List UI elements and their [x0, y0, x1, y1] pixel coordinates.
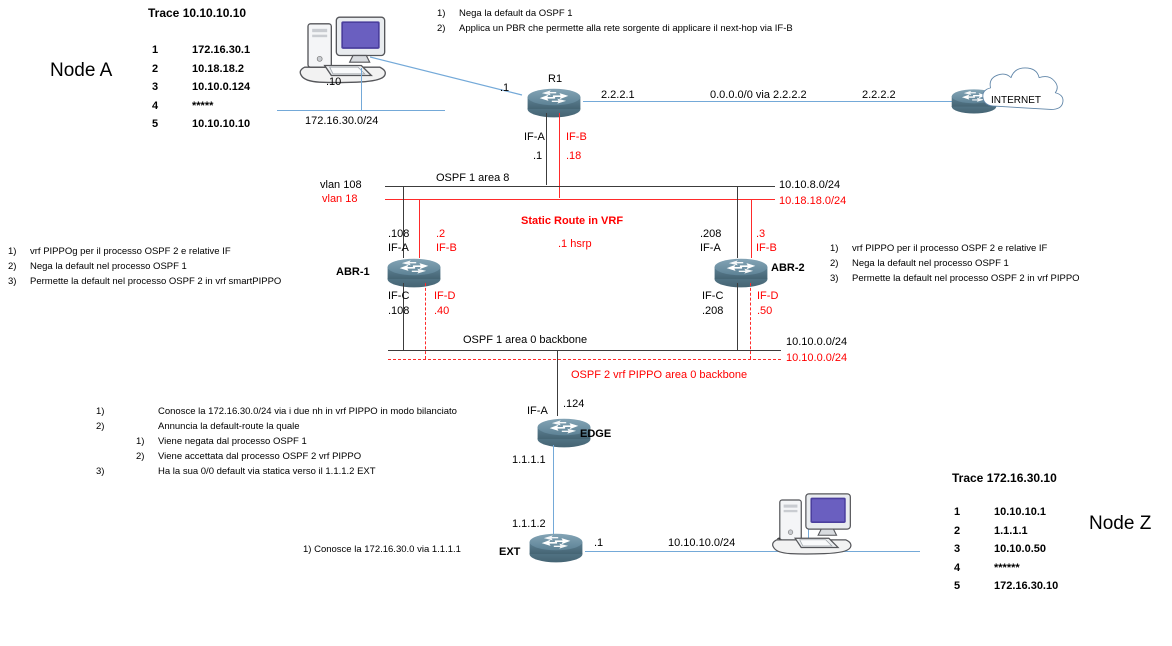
label-abr2-ifd-ip: .50	[757, 305, 772, 318]
trace-a-table: 1172.16.30.1210.18.18.2310.10.0.1244****…	[150, 41, 252, 136]
annotation-edge-text: Viene accettata dal processo OSPF 2 vrf …	[158, 449, 457, 464]
trace-z-row: 310.10.0.50	[954, 542, 1058, 559]
annotation-r1: 1)Nega la default da OSPF 12)Applica un …	[437, 6, 957, 36]
node-a-label: Node A	[50, 60, 112, 82]
trace-z-title: Trace 172.16.30.10	[952, 471, 1057, 485]
annotation-edge-item: 1)Conosce la 172.16.30.0/24 via i due nh…	[96, 404, 457, 419]
abr2-if-a-line	[737, 186, 738, 258]
label-net-10-10-10: 10.10.10.0/24	[668, 537, 735, 550]
annotation-abr1-text: vrf PIPPOg per il processo OSPF 2 e rela…	[30, 244, 281, 259]
annotation-edge-text: Conosce la 172.16.30.0/24 via i due nh i…	[158, 404, 457, 419]
label-abr2-name: ABR-2	[771, 262, 805, 275]
annotation-r1-text: Nega la default da OSPF 1	[459, 6, 793, 21]
label-abr2-ifb: IF-B	[756, 242, 777, 255]
ospf2-backbone-bus	[388, 359, 781, 360]
router-ext-icon[interactable]	[525, 531, 587, 564]
label-net-10-10-0-red: 10.10.0.0/24	[786, 352, 847, 365]
annotation-abr2-text: Permette la default nel processo OSPF 2 …	[852, 271, 1080, 286]
label-ext-up-ip: 1.1.1.2	[512, 518, 546, 531]
label-r1-ifb-ip: .18	[566, 150, 581, 163]
trace-a-hop: 5	[152, 117, 190, 134]
trace-a-address: 10.18.18.2	[192, 62, 250, 79]
annotation-edge-marker: 2)	[96, 449, 158, 464]
trace-a-row: 1172.16.30.1	[152, 43, 250, 60]
label-internet: INTERNET	[991, 95, 1041, 107]
annotation-abr2-text: Nega la default nel processo OSPF 1	[852, 256, 1080, 271]
label-abr1-ifb-ip: .2	[436, 228, 445, 241]
annotation-abr1-item: 2)Nega la default nel processo OSPF 1	[8, 259, 281, 274]
annotation-abr2-marker: 2)	[830, 256, 852, 271]
label-net-10-10-8: 10.10.8.0/24	[779, 179, 840, 192]
label-abr1-ifc-ip: .108	[388, 305, 409, 318]
label-r1-wan-ip: 2.2.2.1	[601, 89, 635, 102]
trace-z-address: 1.1.1.1	[994, 524, 1058, 541]
lan-z-bus	[585, 551, 920, 552]
annotation-abr1-item: 1)vrf PIPPOg per il processo OSPF 2 e re…	[8, 244, 281, 259]
label-abr1-ifa-ip: .108	[388, 228, 409, 241]
label-net-10-10-0-black: 10.10.0.0/24	[786, 336, 847, 349]
annotation-r1-marker: 2)	[437, 21, 459, 36]
annotation-abr1-marker: 3)	[8, 274, 30, 289]
label-abr2-ifa: IF-A	[700, 242, 721, 255]
label-ospf2-area0: OSPF 2 vrf PIPPO area 0 backbone	[571, 369, 747, 382]
label-r1-name: R1	[548, 73, 562, 86]
annotation-abr1-marker: 1)	[8, 244, 30, 259]
trace-z-table: 110.10.10.121.1.1.1310.10.0.504******517…	[952, 503, 1060, 598]
trace-z-address: 172.16.30.10	[994, 579, 1058, 596]
label-abr1-ifa: IF-A	[388, 242, 409, 255]
diagram-canvas: Trace 10.10.10.10 1172.16.30.1210.18.18.…	[0, 0, 1172, 646]
annotation-edge: 1)Conosce la 172.16.30.0/24 via i due nh…	[96, 404, 526, 479]
edge-if-a-line	[557, 350, 558, 416]
trace-z-hop: 3	[954, 542, 992, 559]
label-hsrp: .1 hsrp	[558, 238, 592, 251]
label-abr1-ifd: IF-D	[434, 290, 455, 303]
annotation-abr2-marker: 3)	[830, 271, 852, 286]
trace-a-hop: 4	[152, 99, 190, 116]
trace-a-row: 4*****	[152, 99, 250, 116]
abr2-if-d-line	[750, 283, 751, 359]
label-vlan18: vlan 18	[322, 193, 357, 206]
trace-a-row: 510.10.10.10	[152, 117, 250, 134]
annotation-ext: 1) Conosce la 172.16.30.0 via 1.1.1.1	[303, 545, 461, 556]
label-abr1-ifb: IF-B	[436, 242, 457, 255]
label-net-172-16-30: 172.16.30.0/24	[305, 115, 378, 128]
annotation-edge-item: 2)Viene accettata dal processo OSPF 2 vr…	[96, 449, 457, 464]
annotation-abr1-text: Nega la default nel processo OSPF 1	[30, 259, 281, 274]
label-abr2-ifc: IF-C	[702, 290, 723, 303]
annotation-abr2: 1)vrf PIPPO per il processo OSPF 2 e rel…	[830, 241, 1170, 286]
abr1-if-b-line	[419, 199, 420, 258]
trace-z-row: 21.1.1.1	[954, 524, 1058, 541]
r1-if-a-line	[546, 113, 547, 185]
trace-z-hop: 2	[954, 524, 992, 541]
node-z-label: Node Z	[1089, 513, 1151, 535]
annotation-r1-item: 1)Nega la default da OSPF 1	[437, 6, 793, 21]
label-edge-name: EDGE	[580, 428, 611, 441]
label-abr2-ifd: IF-D	[757, 290, 778, 303]
label-abr2-ifc-ip: .208	[702, 305, 723, 318]
label-ext-lan-ip: .1	[594, 537, 603, 550]
link-edge-to-ext	[553, 445, 554, 543]
abr2-if-b-line	[751, 199, 752, 258]
trace-z-row: 4******	[954, 561, 1058, 578]
trace-z-hop: 5	[954, 579, 992, 596]
trace-z-hop: 1	[954, 505, 992, 522]
ospf1-backbone-bus	[388, 350, 781, 351]
label-abr1-name: ABR-1	[336, 266, 370, 279]
trace-z-address: ******	[994, 561, 1058, 578]
label-edge-ifa-ip: .124	[563, 398, 584, 411]
label-vlan108: vlan 108	[320, 179, 362, 192]
trace-a-hop: 1	[152, 43, 190, 60]
label-abr2-ifa-ip: .208	[700, 228, 721, 241]
annotation-edge-marker: 2)	[96, 419, 158, 434]
annotation-r1-item: 2)Applica un PBR che permette alla rete …	[437, 21, 793, 36]
pc-a-drop-line	[361, 68, 362, 110]
annotation-abr1-text: Permette la default nel processo OSPF 2 …	[30, 274, 281, 289]
annotation-abr2-marker: 1)	[830, 241, 852, 256]
label-pc-a-ip: .10	[326, 76, 341, 89]
annotation-edge-marker: 1)	[96, 434, 158, 449]
abr2-if-c-line	[737, 283, 738, 350]
trace-z-address: 10.10.0.50	[994, 542, 1058, 559]
trace-z-hop: 4	[954, 561, 992, 578]
label-abr1-ifd-ip: .40	[434, 305, 449, 318]
annotation-edge-marker: 1)	[96, 404, 158, 419]
vlan108-bus	[385, 186, 775, 187]
annotation-r1-text: Applica un PBR che permette alla rete so…	[459, 21, 793, 36]
router-r1-icon[interactable]	[523, 86, 585, 119]
annotation-abr1-marker: 2)	[8, 259, 30, 274]
annotation-edge-text: Ha la sua 0/0 default via statica verso …	[158, 464, 457, 479]
annotation-r1-marker: 1)	[437, 6, 459, 21]
trace-a-row: 210.18.18.2	[152, 62, 250, 79]
annotation-edge-text: Annuncia la default-route la quale	[158, 419, 457, 434]
internet-cloud-icon	[970, 58, 1078, 121]
lan-a-bus	[277, 110, 445, 111]
router-abr2-icon[interactable]	[710, 256, 772, 289]
trace-a-address: *****	[192, 99, 250, 116]
vlan18-bus	[385, 199, 775, 200]
annotation-abr1-item: 3)Permette la default nel processo OSPF …	[8, 274, 281, 289]
trace-a-title: Trace 10.10.10.10	[148, 6, 246, 20]
annotation-edge-item: 1)Viene negata dal processo OSPF 1	[96, 434, 457, 449]
trace-a-hop: 2	[152, 62, 190, 79]
trace-z-address: 10.10.10.1	[994, 505, 1058, 522]
label-r1-ifa-ip: .1	[533, 150, 542, 163]
label-r1-uplink-ip: .1	[500, 82, 509, 95]
label-r1-ifa: IF-A	[524, 131, 545, 144]
annotation-edge-item: 3)Ha la sua 0/0 default via statica vers…	[96, 464, 457, 479]
trace-a-address: 10.10.10.10	[192, 117, 250, 134]
annotation-abr2-item: 1)vrf PIPPO per il processo OSPF 2 e rel…	[830, 241, 1080, 256]
label-ospf1-area0: OSPF 1 area 0 backbone	[463, 334, 587, 347]
label-abr2-ifb-ip: .3	[756, 228, 765, 241]
label-net-10-18-18: 10.18.18.0/24	[779, 195, 846, 208]
label-default-route: 0.0.0.0/0 via 2.2.2.2	[710, 89, 807, 102]
router-abr1-icon[interactable]	[383, 256, 445, 289]
label-r1-ifb: IF-B	[566, 131, 587, 144]
label-ospf1-area8: OSPF 1 area 8	[436, 172, 509, 185]
trace-a-address: 10.10.0.124	[192, 80, 250, 97]
abr1-if-d-line	[425, 283, 426, 359]
label-static-route-vrf: Static Route in VRF	[521, 215, 623, 228]
annotation-edge-marker: 3)	[96, 464, 158, 479]
annotation-abr2-item: 2)Nega la default nel processo OSPF 1	[830, 256, 1080, 271]
annotation-abr2-text: vrf PIPPO per il processo OSPF 2 e relat…	[852, 241, 1080, 256]
annotation-abr2-item: 3)Permette la default nel processo OSPF …	[830, 271, 1080, 286]
trace-a-row: 310.10.0.124	[152, 80, 250, 97]
annotation-abr1: 1)vrf PIPPOg per il processo OSPF 2 e re…	[8, 244, 338, 289]
label-ext-name: EXT	[499, 546, 520, 559]
label-internet-ip: 2.2.2.2	[862, 89, 896, 102]
annotation-edge-item: 2)Annuncia la default-route la quale	[96, 419, 457, 434]
trace-a-address: 172.16.30.1	[192, 43, 250, 60]
trace-z-row: 110.10.10.1	[954, 505, 1058, 522]
trace-a-hop: 3	[152, 80, 190, 97]
annotation-edge-text: Viene negata dal processo OSPF 1	[158, 434, 457, 449]
trace-z-row: 5172.16.30.10	[954, 579, 1058, 596]
label-abr1-ifc: IF-C	[388, 290, 409, 303]
pc-node-z-icon	[766, 489, 858, 560]
